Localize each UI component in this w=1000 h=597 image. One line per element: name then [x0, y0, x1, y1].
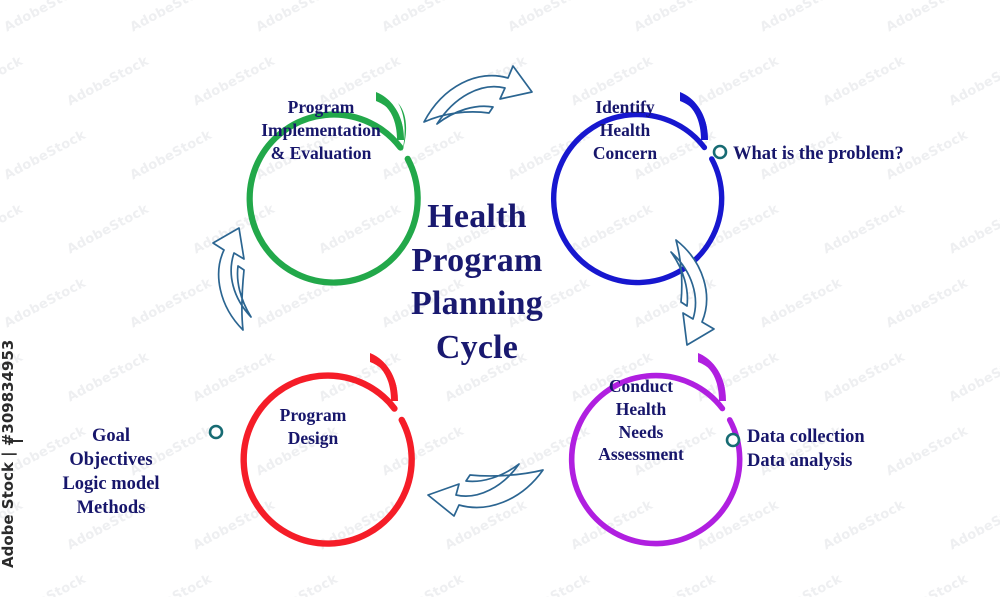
- connector-arrow-right: [671, 240, 714, 345]
- ring-program-design[interactable]: [214, 346, 441, 573]
- node-label-conduct-health-needs-assessment: Conduct Health Needs Assessment: [562, 375, 720, 466]
- node-label-program-implementation-evaluation: Program Implementation & Evaluation: [228, 96, 414, 164]
- connector-arrow-top: [424, 66, 532, 124]
- connector-arrow-left: [213, 228, 251, 330]
- diagram-canvas: AdobeStockAdobeStockAdobeStockAdobeStock…: [0, 0, 1000, 597]
- page-title: Health Program Planning Cycle: [396, 195, 558, 369]
- node-label-program-design: Program Design: [234, 404, 392, 450]
- marker-conduct-health-needs-assessment: [727, 434, 739, 446]
- annotation-goal-objectives: Goal Objectives Logic model Methods: [36, 424, 186, 520]
- node-label-identify-health-concern: Identify Health Concern: [546, 96, 704, 164]
- annotation-data-collection-analysis: Data collection Data analysis: [747, 425, 977, 473]
- annotation-what-is-the-problem: What is the problem?: [733, 142, 983, 166]
- connector-arrow-bottom: [428, 464, 543, 516]
- stock-credit-watermark: Adobe Stock | #309834953: [0, 318, 17, 568]
- marker-program-design: [210, 426, 222, 438]
- marker-identify-health-concern: [714, 146, 726, 158]
